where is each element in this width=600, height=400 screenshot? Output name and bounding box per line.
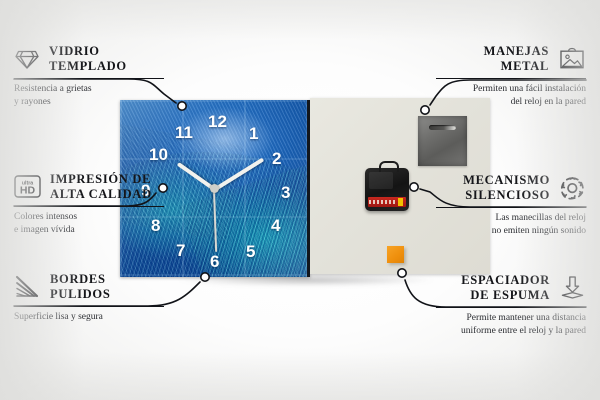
battery-label-mark — [398, 198, 403, 206]
hanger-keyhole-slot — [429, 125, 456, 130]
ultra-hd-icon: ultra HD — [14, 174, 41, 199]
callout-espaciador-espuma: ESPACIADOR DE ESPUMA Permite mantener un… — [436, 273, 586, 337]
callout-title: VIDRIO TEMPLADO — [49, 44, 127, 74]
callout-title: MANEJAS METAL — [484, 44, 549, 74]
battery-label — [368, 197, 406, 207]
clock-numeral-2: 2 — [272, 150, 281, 167]
clock-numeral-1: 1 — [249, 125, 258, 142]
callout-vidrio-templado: VIDRIO TEMPLADO Resistencia a grietas y … — [14, 44, 164, 108]
callout-title: ESPACIADOR DE ESPUMA — [461, 273, 550, 303]
callout-rule — [436, 307, 586, 309]
callout-title: BORDES PULIDOS — [50, 272, 110, 302]
callout-title: IMPRESIÓN DE ALTA CALIDAD — [50, 172, 152, 202]
mechanism-hook — [379, 161, 399, 172]
callout-rule — [14, 78, 164, 80]
callout-rule — [436, 207, 586, 209]
mechanism-highlight — [369, 172, 393, 189]
callout-bordes-pulidos: BORDES PULIDOS Superficie lisa y segura — [14, 272, 164, 324]
callout-rule — [436, 78, 586, 80]
clock-center-cap — [210, 184, 219, 193]
clock-numeral-5: 5 — [246, 243, 255, 260]
quartz-mechanism — [365, 168, 409, 211]
foam-spacer-pad — [387, 246, 404, 263]
hanging-frame-icon — [558, 46, 586, 71]
clock-numeral-7: 7 — [176, 242, 185, 259]
foam-spacer-icon — [559, 275, 586, 300]
diamond-icon — [14, 47, 40, 71]
product-image: 12 1 2 3 4 5 6 7 8 9 10 11 — [120, 100, 490, 280]
clock-numeral-11: 11 — [175, 124, 193, 141]
callout-impresion-alta-calidad: ultra HD IMPRESIÓN DE ALTA CALIDAD Color… — [14, 172, 164, 236]
callout-mecanismo-silencioso: MECANISMO SILENCIOSO Las manecillas del … — [436, 173, 586, 237]
callout-description: Permiten una fácil instalación del reloj… — [436, 83, 586, 108]
callout-description: Resistencia a grietas y rayones — [14, 83, 164, 108]
callout-description: Colores intensos e imagen vívida — [14, 211, 164, 236]
polished-edges-icon — [14, 275, 41, 299]
callout-manejas-metal: MANEJAS METAL Permiten una fácil instala… — [436, 44, 586, 108]
gear-icon — [559, 175, 586, 201]
callout-description: Las manecillas del reloj no emiten ningú… — [436, 212, 586, 237]
metal-hanger-plate — [418, 116, 467, 166]
callout-description: Superficie lisa y segura — [14, 311, 164, 324]
battery-label-text — [369, 200, 395, 204]
clock-numeral-12: 12 — [208, 113, 227, 130]
clock-numeral-10: 10 — [149, 146, 168, 163]
callout-description: Permite mantener una distancia uniforme … — [436, 312, 586, 337]
infographic-canvas: 12 1 2 3 4 5 6 7 8 9 10 11 — [0, 0, 600, 400]
clock-numeral-6: 6 — [210, 253, 219, 270]
callout-title: MECANISMO SILENCIOSO — [463, 173, 550, 203]
clock-numeral-4: 4 — [271, 217, 280, 234]
clock-numeral-3: 3 — [281, 184, 290, 201]
ultra-hd-icon-main-text: HD — [20, 185, 36, 197]
callout-rule — [14, 206, 164, 208]
callout-rule — [14, 306, 164, 308]
